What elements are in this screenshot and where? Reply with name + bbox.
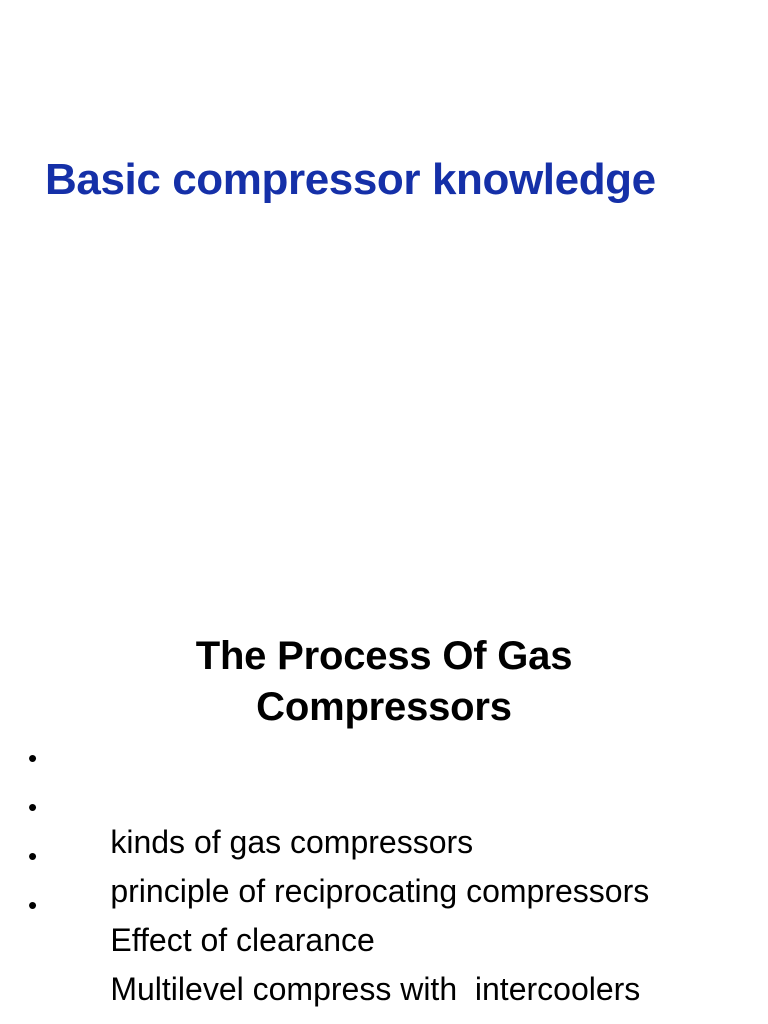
list-item: • Multilevel compress with intercoolers [22, 884, 752, 933]
section-heading: The Process Of Gas Compressors [64, 631, 704, 733]
empty-content-area [0, 200, 768, 590]
bullet-dot-icon: • [28, 884, 46, 926]
slide-page: Basic compressor knowledge The Process O… [0, 0, 768, 1024]
bullet-dot-icon: • [28, 786, 46, 828]
list-item: • kinds of gas compressors [22, 737, 752, 786]
bullet-dot-icon: • [28, 835, 46, 877]
list-item: • Effect of clearance [22, 835, 752, 884]
topic-bullet-list: • kinds of gas compressors • principle o… [22, 737, 752, 933]
page-title: Basic compressor knowledge [45, 157, 735, 203]
bullet-dot-icon: • [28, 737, 46, 779]
list-item: • principle of reciprocating compressors [22, 786, 752, 835]
list-item-label: Multilevel compress with intercoolers [110, 971, 640, 1007]
